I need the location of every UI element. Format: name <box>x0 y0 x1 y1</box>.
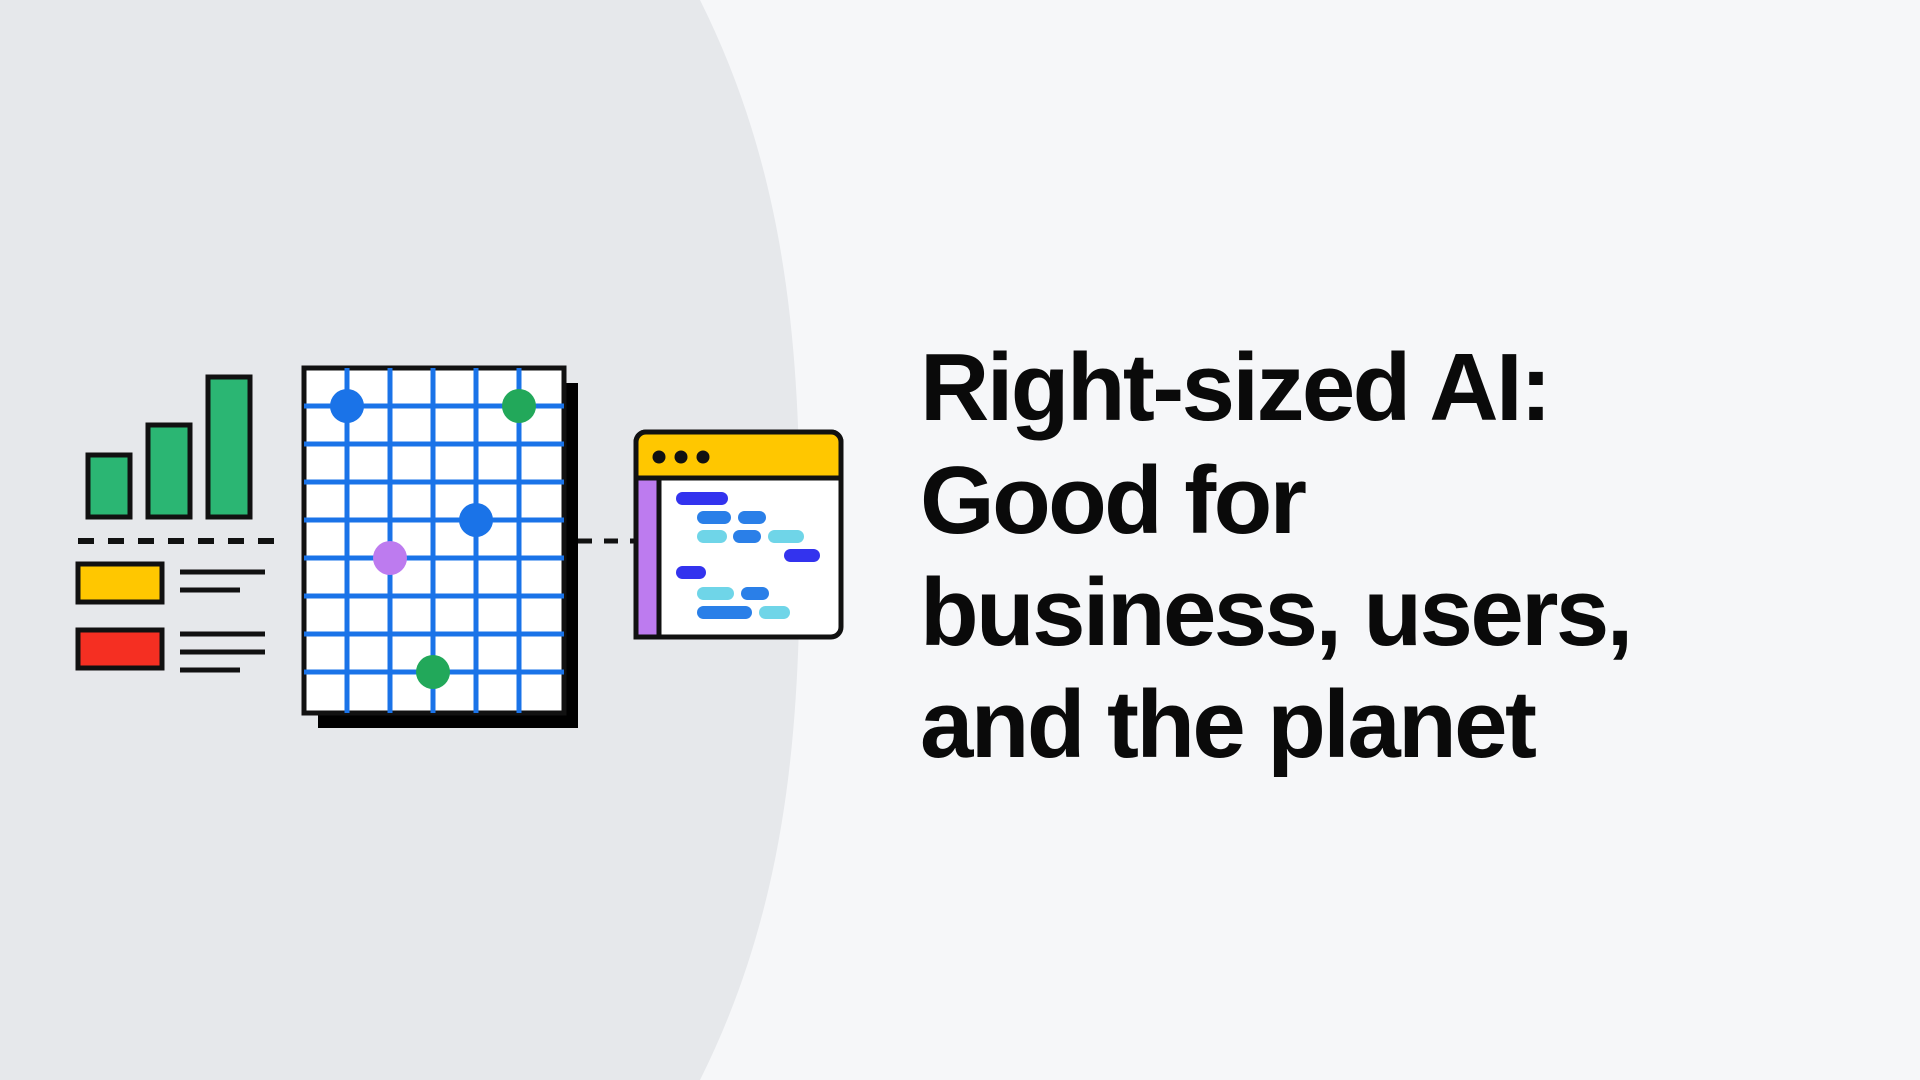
code-editor-window <box>636 432 841 637</box>
code-token <box>733 530 761 543</box>
legend-swatch-red <box>78 630 162 668</box>
headline-line-3: business, users, <box>920 557 1820 669</box>
code-token <box>741 587 769 600</box>
code-token <box>676 566 706 579</box>
legend-swatch-yellow <box>78 564 162 602</box>
illustration-group <box>0 0 900 1080</box>
window-dot-2-icon <box>675 451 688 464</box>
code-window-sidebar <box>636 478 659 637</box>
bar-chart-group <box>88 377 250 517</box>
scatter-dot-green-2 <box>416 655 450 689</box>
scatter-grid-panel <box>304 368 578 728</box>
page-root: Right-sized AI: Good for business, users… <box>0 0 1920 1080</box>
scatter-dot-green-1 <box>502 389 536 423</box>
code-token <box>697 587 734 600</box>
headline-line-4: and the planet <box>920 669 1820 781</box>
code-token <box>784 549 820 562</box>
headline-line-2: Good for <box>920 445 1820 557</box>
green-bar-1 <box>88 455 130 517</box>
code-token <box>768 530 804 543</box>
code-window-titlebar <box>636 432 841 478</box>
code-token <box>759 606 790 619</box>
legend-row-yellow <box>78 564 265 602</box>
window-dot-1-icon <box>653 451 666 464</box>
scatter-dot-purple-1 <box>373 541 407 575</box>
headline-line-1: Right-sized AI: <box>920 332 1820 444</box>
code-token <box>697 606 752 619</box>
green-bar-2 <box>148 425 190 517</box>
page-title: Right-sized AI: Good for business, users… <box>920 332 1820 781</box>
scatter-dot-blue-2 <box>459 503 493 537</box>
code-token <box>738 511 766 524</box>
code-token <box>697 530 727 543</box>
scatter-dot-blue-1 <box>330 389 364 423</box>
code-token <box>676 492 728 505</box>
green-bar-3 <box>208 377 250 517</box>
window-dot-3-icon <box>697 451 710 464</box>
code-token <box>697 511 731 524</box>
legend-row-red <box>78 630 265 670</box>
